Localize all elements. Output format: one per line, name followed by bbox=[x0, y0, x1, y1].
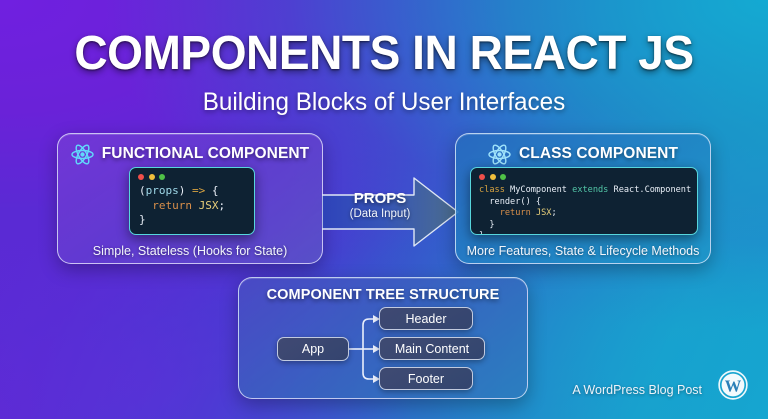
functional-component-panel: FUNCTIONAL COMPONENT (props) => { return… bbox=[57, 133, 323, 264]
react-logo-icon bbox=[488, 144, 511, 165]
minimize-dot-icon bbox=[490, 174, 496, 180]
close-dot-icon bbox=[138, 174, 144, 180]
window-dots bbox=[471, 168, 697, 180]
component-tree-panel: COMPONENT TREE STRUCTURE App Header Main… bbox=[238, 277, 528, 399]
wordpress-logo-icon: W bbox=[718, 370, 748, 405]
footer-credit-text: A WordPress Blog Post bbox=[572, 383, 702, 397]
window-dots bbox=[130, 168, 254, 180]
tree-node-app[interactable]: App bbox=[277, 337, 349, 361]
react-logo-icon bbox=[71, 144, 94, 165]
maximize-dot-icon bbox=[159, 174, 165, 180]
close-dot-icon bbox=[479, 174, 485, 180]
class-panel-title: CLASS COMPONENT bbox=[519, 145, 678, 163]
infographic-canvas: COMPONENTS IN REACT JS Building Blocks o… bbox=[0, 0, 768, 419]
minimize-dot-icon bbox=[149, 174, 155, 180]
class-panel-header: CLASS COMPONENT bbox=[456, 140, 710, 168]
tree-node-footer[interactable]: Footer bbox=[379, 367, 473, 390]
page-title: COMPONENTS IN REACT JS bbox=[15, 26, 752, 81]
tree-node-header[interactable]: Header bbox=[379, 307, 473, 330]
class-code-text: class MyComponent extends React.Componen… bbox=[471, 180, 697, 235]
functional-panel-title: FUNCTIONAL COMPONENT bbox=[102, 145, 310, 163]
class-code-window: class MyComponent extends React.Componen… bbox=[470, 167, 698, 235]
functional-code-text: (props) => { return JSX; } bbox=[130, 180, 254, 228]
class-panel-caption: More Features, State & Lifecycle Methods bbox=[456, 244, 710, 258]
maximize-dot-icon bbox=[500, 174, 506, 180]
svg-text:W: W bbox=[725, 376, 742, 395]
functional-panel-header: FUNCTIONAL COMPONENT bbox=[58, 140, 322, 168]
functional-panel-caption: Simple, Stateless (Hooks for State) bbox=[58, 244, 322, 258]
class-component-panel: CLASS COMPONENT class MyComponent extend… bbox=[455, 133, 711, 264]
props-arrow: PROPS (Data Input) bbox=[322, 176, 459, 248]
tree-node-main-content[interactable]: Main Content bbox=[379, 337, 485, 360]
page-subtitle: Building Blocks of User Interfaces bbox=[12, 88, 757, 117]
functional-code-window: (props) => { return JSX; } bbox=[129, 167, 255, 235]
